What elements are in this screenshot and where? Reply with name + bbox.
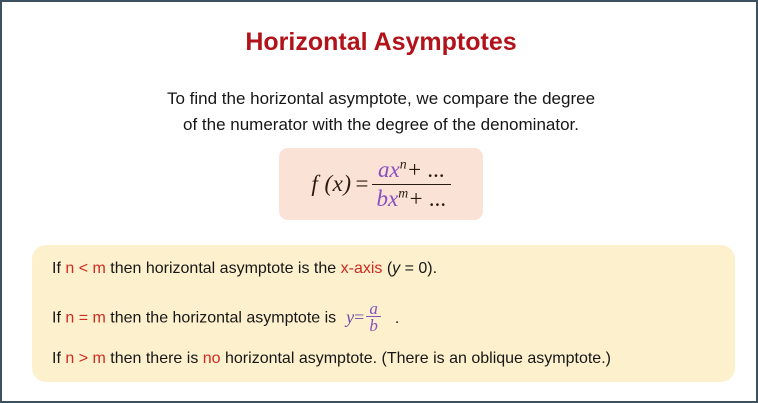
slide-container: Horizontal Asymptotes To find the horizo…	[0, 0, 758, 403]
rule-n-equals-m: If n = m then the horizontal asymptote i…	[52, 302, 399, 335]
rule1-prefix: If	[52, 260, 65, 277]
equals-sign: =	[355, 171, 368, 197]
rule3-highlight: no	[203, 350, 221, 367]
formula-box: f (x) = axn+ ... bxm+ ...	[279, 148, 483, 220]
rule2-middle: then the horizontal asymptote is	[106, 310, 336, 327]
numerator-exponent: n	[400, 156, 407, 171]
function-label: f (x)	[311, 171, 351, 197]
rule1-variable: y	[392, 260, 400, 277]
fraction: axn+ ... bxm+ ...	[372, 157, 450, 212]
asymptote-equation: y=ab	[346, 307, 383, 327]
numerator-tail: + ...	[407, 157, 446, 182]
rule2-eq-sign: =	[354, 307, 364, 327]
rule3-condition: n > m	[65, 350, 105, 367]
numerator-variable: x	[390, 157, 400, 182]
rule2-eq-variable: y	[346, 307, 354, 327]
rule1-middle: then horizontal asymptote is the	[106, 260, 341, 277]
rule2-fraction-denominator: b	[366, 317, 381, 334]
rule1-condition: n < m	[65, 260, 105, 277]
rule3-middle: then there is	[106, 350, 203, 367]
rule2-fraction-numerator: a	[366, 301, 381, 316]
rule2-condition: n = m	[65, 310, 105, 327]
rule-n-greater-than-m: If n > m then there is no horizontal asy…	[52, 350, 611, 368]
rule3-prefix: If	[52, 350, 65, 367]
rational-function-formula: f (x) = axn+ ... bxm+ ...	[311, 157, 450, 212]
intro-paragraph: To find the horizontal asymptote, we com…	[2, 86, 758, 138]
intro-line-1: To find the horizontal asymptote, we com…	[2, 86, 758, 112]
page-title: Horizontal Asymptotes	[2, 28, 758, 57]
fraction-denominator: bxm+ ...	[372, 185, 450, 212]
rule1-highlight: x-axis	[341, 260, 383, 277]
rules-box: If n < m then horizontal asymptote is th…	[32, 245, 735, 382]
rule1-suffix: = 0).	[400, 260, 437, 277]
rule-n-less-than-m: If n < m then horizontal asymptote is th…	[52, 260, 437, 278]
numerator-coefficient: a	[378, 157, 390, 182]
denominator-coefficient: b	[376, 186, 388, 211]
rule2-period: .	[395, 310, 399, 327]
rule3-suffix: horizontal asymptote. (There is an obliq…	[221, 350, 611, 367]
rule1-open-paren: (	[382, 260, 392, 277]
denominator-exponent: m	[398, 185, 408, 200]
intro-line-2: of the numerator with the degree of the …	[2, 112, 758, 138]
rule2-prefix: If	[52, 310, 65, 327]
denominator-tail: + ...	[408, 186, 447, 211]
fraction-numerator: axn+ ...	[372, 157, 450, 184]
rule2-fraction: ab	[366, 301, 381, 334]
denominator-variable: x	[388, 186, 398, 211]
